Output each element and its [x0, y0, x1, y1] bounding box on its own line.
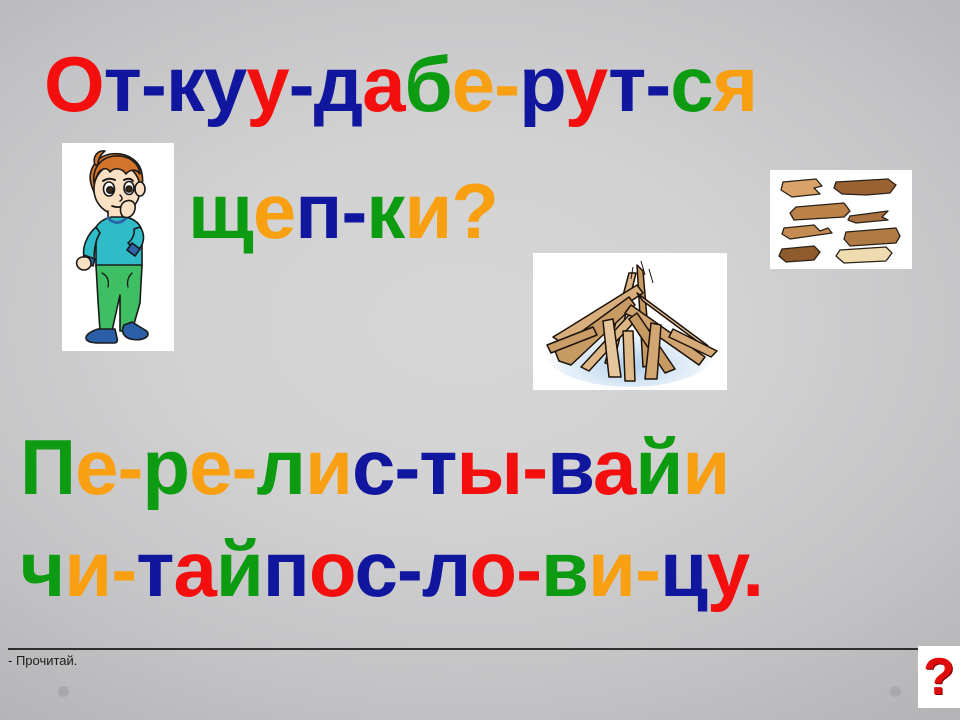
wood-splinters-illustration	[770, 170, 912, 269]
letter-group: б	[405, 40, 452, 128]
letter-group: П	[20, 423, 75, 511]
kindling-pile-illustration	[533, 253, 727, 390]
letter-group: О	[44, 40, 104, 128]
letter-group: щ	[188, 167, 253, 255]
decorative-dot-right	[890, 686, 901, 697]
letter-group: й	[216, 525, 263, 613]
letter-group: е	[253, 167, 295, 255]
letter-group: р	[519, 40, 565, 128]
slide-canvas: От-куу-дабе-рут-ся щеп-ки? Пе-ре-лис-ты-…	[0, 0, 960, 720]
text-line-shchepki: щеп-ки?	[188, 172, 498, 250]
letter-group: т-ку	[104, 40, 247, 128]
letter-group: с-л	[355, 525, 470, 613]
question-mark-icon: ?	[923, 651, 955, 703]
letter-group: и	[682, 423, 729, 511]
letter-group: ц	[660, 525, 707, 613]
letter-group: т-	[608, 40, 670, 128]
footer-divider	[8, 648, 952, 650]
letter-group: й	[635, 423, 682, 511]
letter-group: а	[593, 423, 635, 511]
letter-group: к	[366, 167, 404, 255]
letter-group: е-	[189, 423, 256, 511]
letter-group: у	[565, 40, 608, 128]
thinking-boy-illustration	[62, 143, 174, 351]
letter-group: -д	[289, 40, 363, 128]
letter-group: у	[246, 40, 288, 128]
letter-group: с-т	[352, 423, 457, 511]
footer-note: - Прочитай.	[8, 653, 77, 668]
letter-group: о	[309, 525, 355, 613]
text-line-perelistyvay-i: Пе-ре-лис-ты-вайи	[20, 428, 729, 506]
letter-group: в	[547, 423, 593, 511]
letter-group: ч	[20, 525, 64, 613]
letter-group: в	[541, 525, 588, 613]
letter-group: о-	[469, 525, 541, 613]
text-line-chitay-poslovitsu: чи-тайпос-ло-ви-цу.	[20, 530, 763, 608]
letter-group: я	[713, 40, 758, 128]
letter-group: п-	[295, 167, 366, 255]
letter-group: п	[263, 525, 309, 613]
letter-group: и-	[64, 525, 136, 613]
letter-group: а	[173, 525, 215, 613]
letter-group: с	[670, 40, 712, 128]
letter-group: у.	[707, 525, 763, 613]
letter-group: р	[142, 423, 189, 511]
decorative-dot-left	[58, 686, 69, 697]
letter-group: и	[305, 423, 352, 511]
letter-group: и?	[404, 167, 498, 255]
letter-group: т	[136, 525, 173, 613]
letter-group: и-	[588, 525, 660, 613]
help-question-badge[interactable]: ?	[918, 646, 960, 708]
letter-group: е-	[75, 423, 142, 511]
letter-group: л	[256, 423, 305, 511]
text-line-otkuda-berutsya: От-куу-дабе-рут-ся	[44, 45, 757, 123]
letter-group: а	[362, 40, 404, 128]
letter-group: е-	[452, 40, 519, 128]
letter-group: ы-	[457, 423, 548, 511]
